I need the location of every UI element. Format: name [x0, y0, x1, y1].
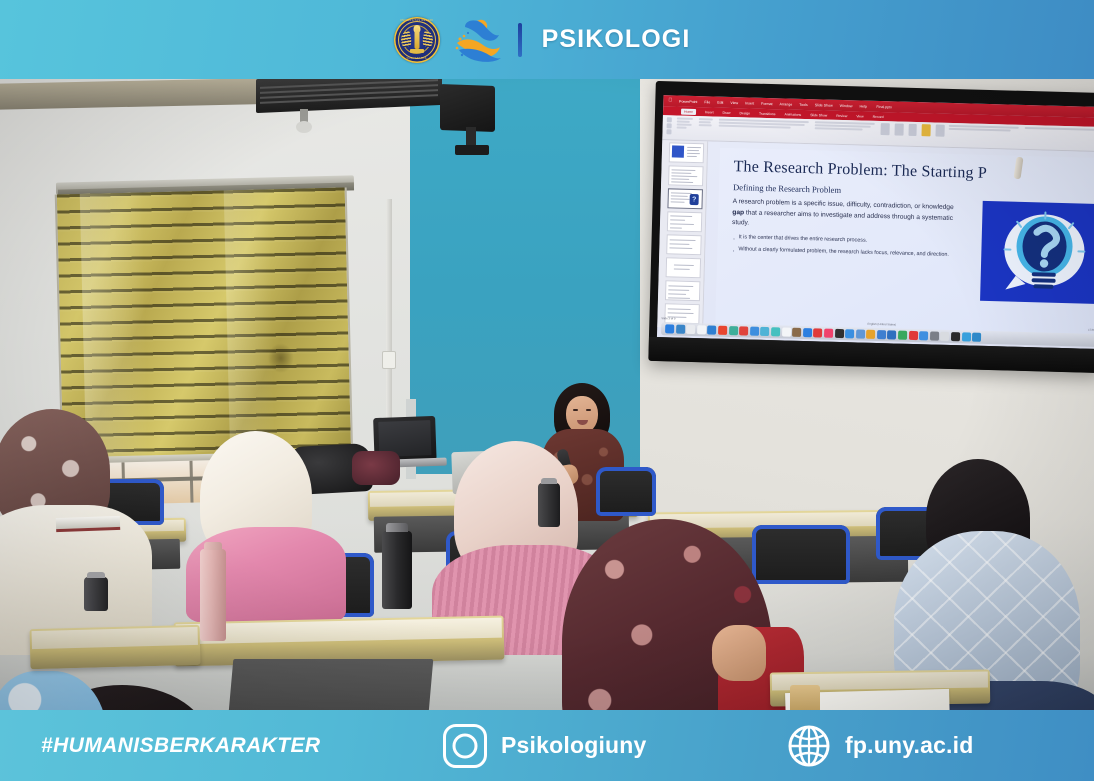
tab-record[interactable]: Record [873, 114, 884, 118]
dock-icon[interactable] [866, 330, 875, 339]
slide-thumbnail-panel[interactable] [657, 140, 708, 328]
slide-bullet-list: It is the center that drives the entire … [731, 234, 955, 260]
slide-thumbnail[interactable] [665, 280, 701, 301]
footer-bar: #HUMANISBERKARAKTER Psikologiuny fp.uny.… [0, 710, 1094, 781]
seminar-photo-card: UNIVERSITAS NEGERI YOGYAKARTA PSIKOLOGI [0, 0, 1094, 781]
status-slide-count: Slide 3 of 9 [661, 316, 675, 321]
dock-icon[interactable] [972, 333, 981, 342]
menu-slideshow[interactable]: Slide Show [815, 103, 833, 107]
slide-paragraph: A research problem is a specific issue, … [732, 197, 957, 235]
dock-icon[interactable] [729, 326, 738, 335]
slide-thumbnail-selected[interactable] [667, 188, 703, 209]
tumbler [538, 483, 560, 527]
tab-slideshow[interactable]: Slide Show [810, 113, 827, 117]
tab-design[interactable]: Design [739, 111, 750, 115]
dock-icon[interactable] [909, 331, 918, 340]
bag [352, 451, 400, 485]
uny-seal-logo: UNIVERSITAS NEGERI YOGYAKARTA [394, 17, 440, 63]
water-bottle [200, 549, 226, 641]
website-link[interactable]: fp.uny.ac.id [787, 724, 974, 768]
dock-icon[interactable] [803, 328, 812, 337]
dock-icon[interactable] [877, 330, 886, 339]
status-zoom: 173% [1088, 328, 1094, 333]
slide-thumbnail[interactable] [667, 211, 703, 232]
wall-outlet [382, 351, 396, 369]
tab-insert[interactable]: Insert [705, 110, 714, 114]
desk [30, 625, 201, 669]
dock-icon[interactable] [951, 332, 960, 341]
dock-icon[interactable] [739, 326, 748, 335]
footer-hashtag: #HUMANISBERKARAKTER [41, 734, 320, 758]
dock-icon[interactable] [856, 329, 865, 338]
header-bar: UNIVERSITAS NEGERI YOGYAKARTA PSIKOLOGI [0, 0, 1094, 79]
menu-tools[interactable]: Tools [799, 102, 807, 106]
dock-icon[interactable] [750, 327, 759, 336]
uny-seal-top-text: UNIVERSITAS NEGERI [394, 19, 440, 22]
instagram-icon[interactable] [443, 724, 487, 768]
apple-icon[interactable]:  [668, 98, 672, 103]
tumbler [84, 577, 108, 611]
tab-transitions[interactable]: Transitions [759, 111, 776, 115]
dock-icon[interactable] [962, 332, 971, 341]
dock-icon[interactable] [718, 326, 727, 335]
instagram-link[interactable]: Psikologiuny [443, 724, 647, 768]
tab-view[interactable]: View [856, 114, 863, 118]
dock-icon[interactable] [760, 327, 769, 336]
header-divider [518, 23, 522, 57]
dock-icon[interactable] [686, 325, 695, 334]
dock-icon[interactable] [845, 329, 854, 338]
speaker-box-icon [440, 84, 495, 132]
dock-icon[interactable] [940, 332, 949, 341]
current-slide: The Research Problem: The Starting P Def… [715, 148, 1094, 339]
uny-seal-bottom-text: YOGYAKARTA [394, 57, 440, 60]
menu-window[interactable]: Window [840, 103, 853, 107]
dock-icon[interactable] [834, 329, 843, 338]
dock-icon[interactable] [887, 330, 896, 339]
slide-thumbnail[interactable] [668, 165, 704, 186]
dock-icon[interactable] [707, 325, 716, 334]
menu-arrange[interactable]: Arrange [780, 102, 793, 106]
dock-icon[interactable] [782, 327, 791, 336]
dock-icon[interactable] [771, 327, 780, 336]
display-screen:  PowerPoint File Edit View Insert Forma… [657, 95, 1094, 349]
dock-icon[interactable] [665, 324, 674, 333]
slide-thumbnail[interactable] [669, 142, 705, 163]
tab-animations[interactable]: Animations [784, 112, 801, 116]
psikologi-swoosh-logo [451, 17, 503, 63]
thumbnail-lightbulb-icon [690, 194, 699, 205]
cup [790, 685, 820, 710]
menu-format[interactable]: Format [761, 101, 772, 105]
document-filename: Final.pptx [876, 104, 892, 108]
menu-file[interactable]: File [704, 100, 710, 104]
tab-review[interactable]: Review [836, 113, 847, 117]
slide-thumbnail[interactable] [666, 257, 702, 278]
dock-icon[interactable] [813, 328, 822, 337]
slide-title: The Research Problem: The Starting P [733, 158, 1094, 186]
website-url: fp.uny.ac.id [845, 732, 974, 759]
menu-insert[interactable]: Insert [745, 101, 754, 105]
dock-icon[interactable] [930, 331, 939, 340]
scarf [0, 671, 106, 710]
tumbler [382, 531, 412, 609]
slide-bullet: It is the center that drives the entire … [739, 234, 956, 248]
slide-canvas[interactable]: The Research Problem: The Starting P Def… [703, 141, 1094, 339]
attendee-blue-scarf [0, 671, 210, 710]
status-language: English (United States) [867, 322, 896, 328]
seminar-photograph:  PowerPoint File Edit View Insert Forma… [0, 79, 1094, 710]
dock-icon[interactable] [824, 329, 833, 338]
dock-icon[interactable] [919, 331, 928, 340]
menu-help[interactable]: Help [859, 104, 867, 108]
slide-bullet: Without a clearly formulated problem, th… [738, 246, 955, 260]
menu-powerpoint[interactable]: PowerPoint [679, 99, 697, 103]
tab-home[interactable]: Home [681, 108, 696, 114]
dock-icon[interactable] [697, 325, 706, 334]
dock-icon[interactable] [792, 328, 801, 337]
arm [712, 625, 766, 681]
menu-edit[interactable]: Edit [717, 100, 723, 104]
header-title: PSIKOLOGI [542, 25, 691, 54]
menu-view[interactable]: View [730, 100, 738, 104]
instagram-handle: Psikologiuny [501, 732, 647, 759]
globe-icon[interactable] [787, 724, 831, 768]
tab-draw[interactable]: Draw [723, 110, 731, 114]
slide-thumbnail[interactable] [666, 234, 702, 255]
notebook [56, 516, 120, 532]
slide-image [980, 201, 1094, 304]
dock-icon[interactable] [898, 331, 907, 340]
dock-icon[interactable] [676, 325, 685, 334]
wall-display:  PowerPoint File Edit View Insert Forma… [648, 81, 1094, 373]
